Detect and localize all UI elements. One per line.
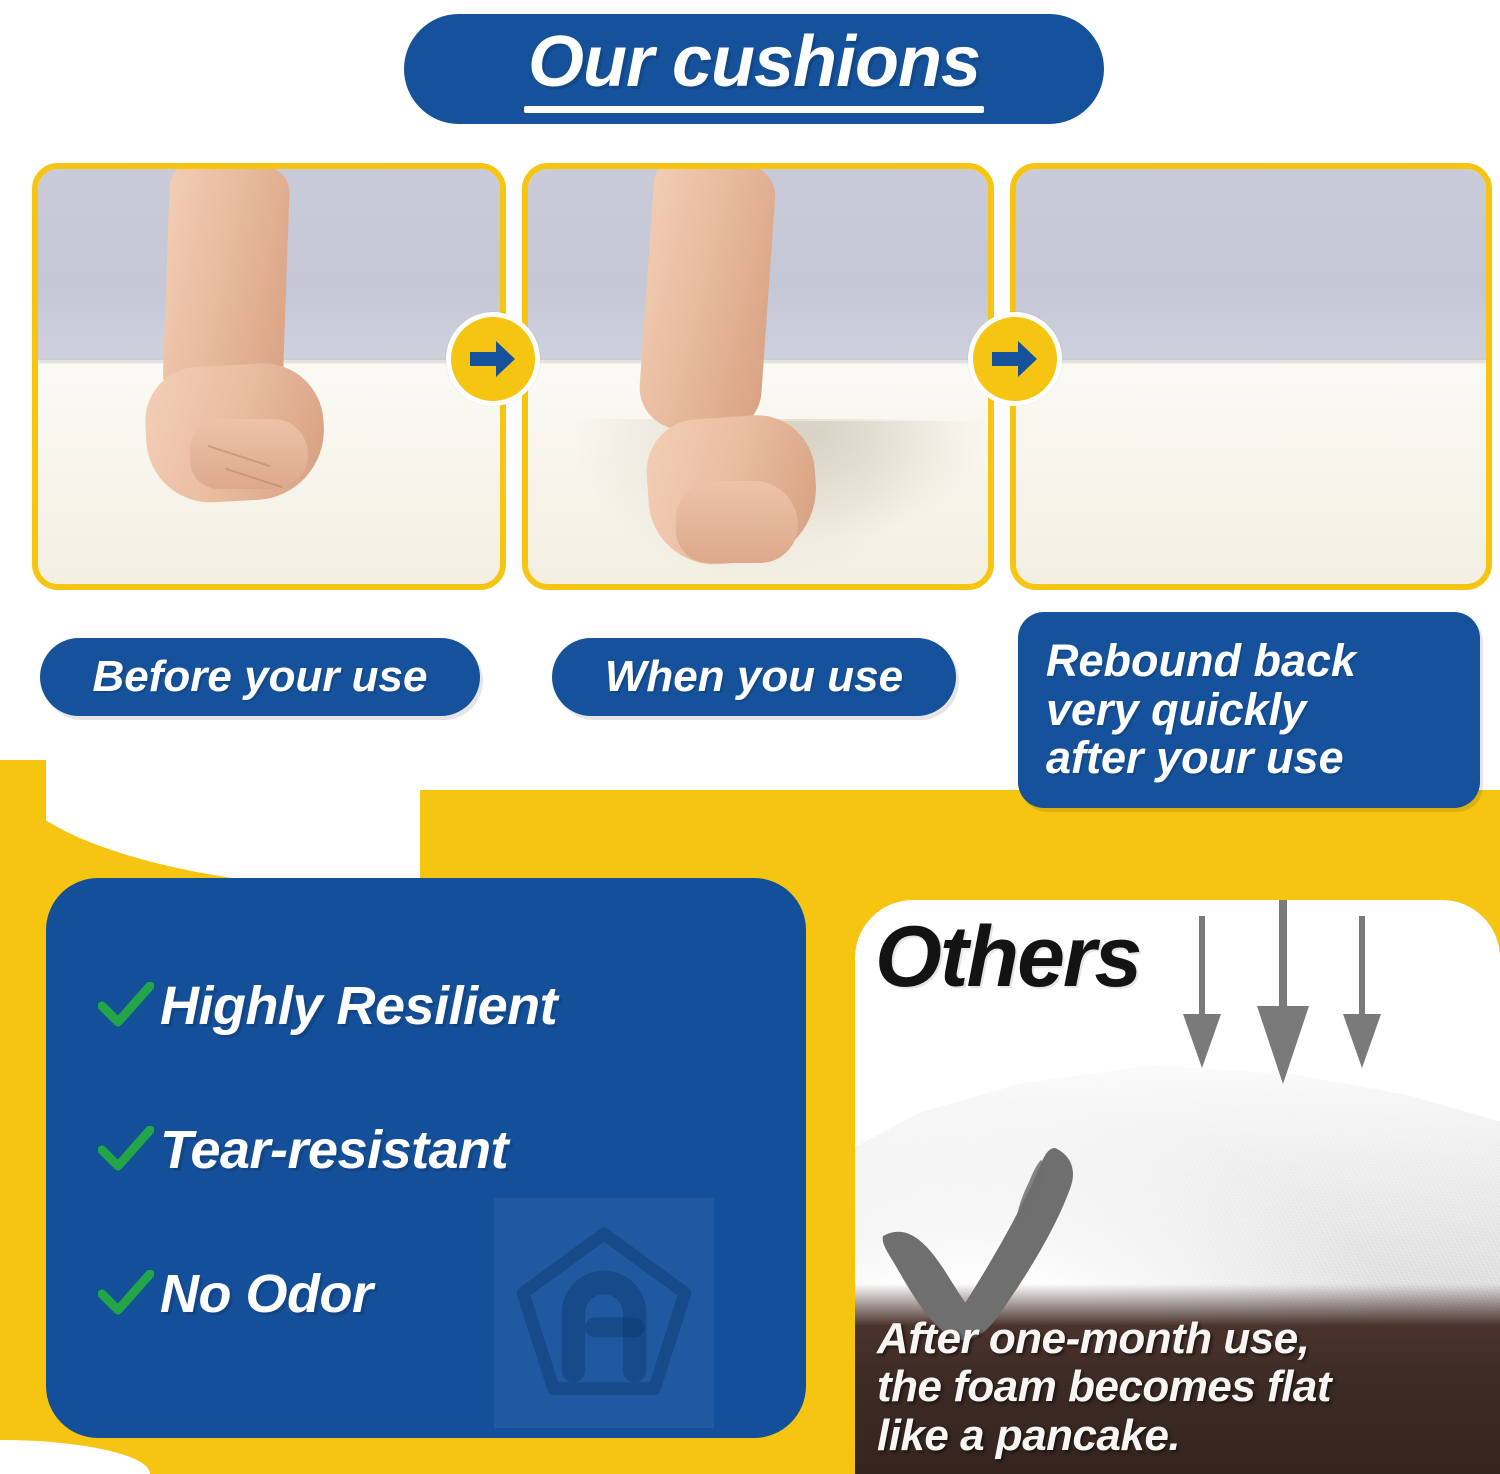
check-icon [98,1270,160,1318]
infographic-canvas: Our cushions [0,0,1500,1474]
step-caption-during: When you use [552,638,956,716]
title-underline [524,106,984,113]
photo-foam-edge [1016,360,1486,363]
downward-pressure-arrows-icon [1155,900,1435,1120]
page-title: Our cushions [528,26,980,98]
steps-photo-row [32,163,1480,578]
page-title-pill: Our cushions [404,14,1104,124]
feature-item-tear-resistant: Tear-resistant [98,1110,758,1190]
step-photo-before [32,163,506,590]
step-caption-rebound-line2: very quickly [1046,686,1306,735]
features-card: Highly Resilient Tear-resistant No Odor [46,878,806,1438]
others-title: Others [875,914,1140,1000]
feature-label: Tear-resistant [160,1119,508,1181]
feature-label: No Odor [160,1263,372,1325]
feature-label: Highly Resilient [160,975,557,1037]
check-icon [98,1126,160,1174]
photo-knuckles [676,481,798,563]
step-caption-rebound-line1: Rebound back [1046,637,1356,686]
photo-foam-surface [1016,360,1486,584]
step-photo-rebound [1010,163,1492,590]
step-arrow-icon [968,312,1062,406]
check-icon [98,982,160,1030]
step-arrow-icon [446,312,540,406]
photo-knuckles [190,419,308,489]
pentagon-a-logo-icon [494,1198,714,1428]
photo-fist-resting [38,169,500,584]
photo-backdrop [1016,169,1486,364]
others-caption: After one-month use, the foam becomes fl… [877,1315,1477,1460]
step-caption-rebound: Rebound back very quickly after your use [1018,612,1480,808]
photo-forearm [637,169,777,435]
others-caption-line2: the foam becomes flat [877,1363,1477,1411]
yellow-left-fill [0,760,46,900]
others-caption-line3: like a pancake. [877,1412,1477,1460]
step-caption-before: Before your use [40,638,480,716]
others-comparison-card: Others [855,900,1500,1474]
step-photo-during [522,163,994,590]
feature-item-highly-resilient: Highly Resilient [98,966,758,1046]
photo-fist-pressing [528,169,988,584]
others-caption-line1: After one-month use, [877,1315,1477,1363]
step-caption-rebound-line3: after your use [1046,734,1344,783]
photo-foam-rebounded [1016,169,1486,584]
